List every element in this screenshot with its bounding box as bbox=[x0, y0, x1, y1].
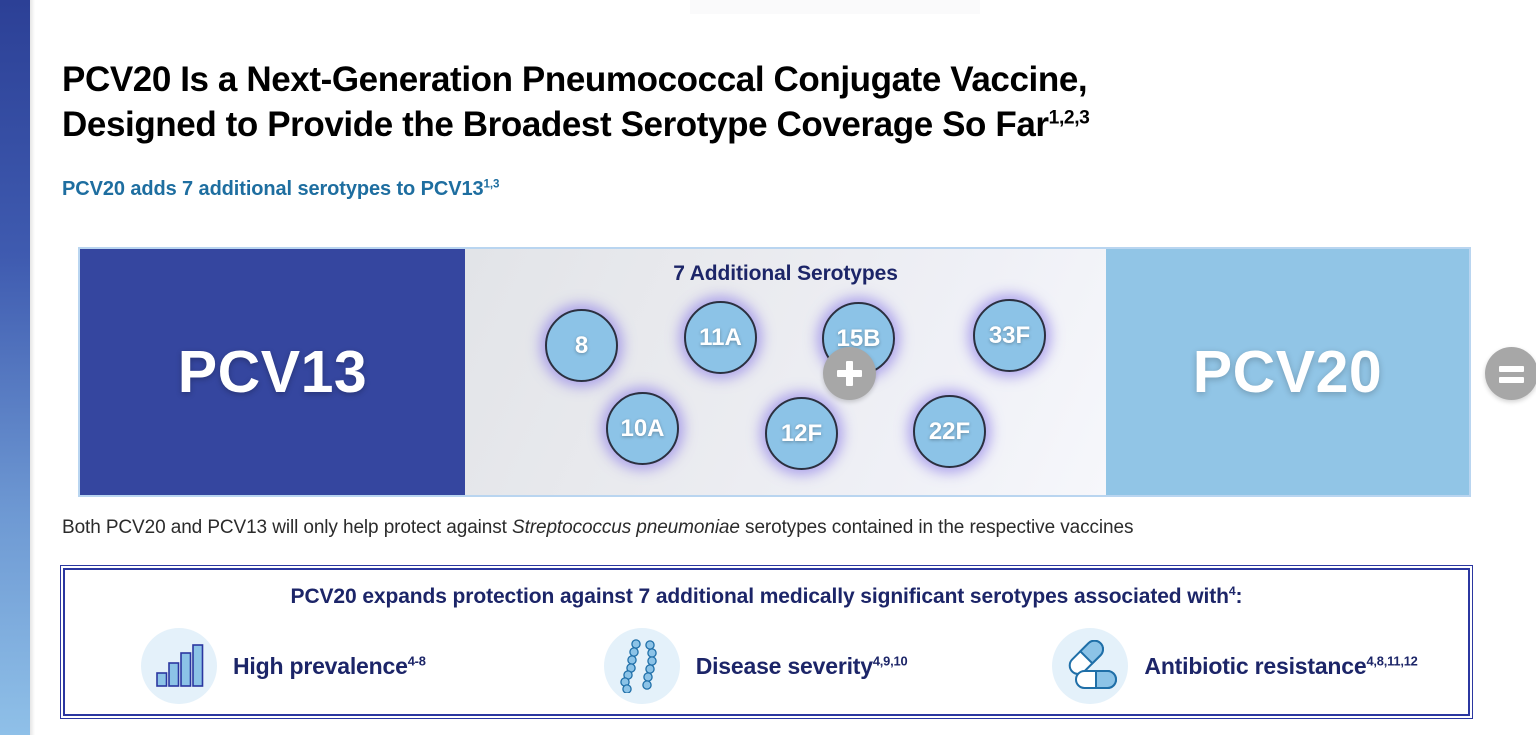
pcv20-block: PCV20 bbox=[1106, 249, 1469, 495]
callout-item-label: Disease severity4,9,10 bbox=[696, 653, 908, 680]
equals-glyph bbox=[1498, 360, 1525, 387]
additional-serotypes-block: 7 Additional Serotypes 8 11A 15B 33F 10A… bbox=[465, 249, 1106, 495]
pcv13-block: PCV13 bbox=[80, 249, 465, 495]
plus-glyph bbox=[836, 360, 863, 387]
serotype-circle-22f: 22F bbox=[913, 395, 986, 468]
caption-part-1: Both PCV20 and PCV13 will only help prot… bbox=[62, 517, 512, 538]
subtitle-text: PCV20 adds 7 additional serotypes to PCV… bbox=[62, 178, 484, 200]
callout-item-antibiotic-resistance: Antibiotic resistance4,8,11,12 bbox=[1052, 628, 1417, 704]
callout-box: PCV20 expands protection against 7 addit… bbox=[63, 568, 1470, 716]
subtitle-superscript: 1,3 bbox=[484, 177, 500, 190]
item-label-text: High prevalence bbox=[233, 653, 408, 679]
title-line-1: PCV20 Is a Next-Generation Pneumococcal … bbox=[62, 60, 1087, 99]
callout-item-label: High prevalence4-8 bbox=[233, 653, 426, 680]
serotype-circle-10a: 10A bbox=[606, 392, 679, 465]
serotype-circle-8: 8 bbox=[545, 309, 618, 382]
caption-species-name: Streptococcus pneumoniae bbox=[512, 517, 740, 538]
title-superscript: 1,2,3 bbox=[1049, 107, 1090, 128]
item-label-text: Antibiotic resistance bbox=[1144, 653, 1366, 679]
diagram-caption: Both PCV20 and PCV13 will only help prot… bbox=[62, 517, 1133, 539]
item-label-text: Disease severity bbox=[696, 653, 873, 679]
bar-chart-icon bbox=[141, 628, 217, 704]
callout-heading-text: PCV20 expands protection against 7 addit… bbox=[291, 585, 1229, 608]
caption-part-2: serotypes contained in the respective va… bbox=[740, 517, 1133, 538]
plus-operator-icon bbox=[823, 347, 876, 400]
equals-operator-icon bbox=[1485, 347, 1536, 400]
additional-serotypes-heading: 7 Additional Serotypes bbox=[465, 262, 1106, 286]
page-title: PCV20 Is a Next-Generation Pneumococcal … bbox=[62, 58, 1482, 146]
title-line-2: Designed to Provide the Broadest Serotyp… bbox=[62, 105, 1049, 144]
vaccine-equation-diagram: PCV13 7 Additional Serotypes 8 11A 15B 3… bbox=[78, 247, 1471, 497]
serotype-circle-11a: 11A bbox=[684, 301, 757, 374]
serotype-circle-12f: 12F bbox=[765, 397, 838, 470]
serotype-circle-33f: 33F bbox=[973, 299, 1046, 372]
item-label-superscript: 4,9,10 bbox=[873, 653, 908, 668]
pcv20-label: PCV20 bbox=[1193, 338, 1382, 406]
callout-item-list: High prevalence4-8 bbox=[65, 620, 1468, 712]
left-accent-rail bbox=[0, 0, 30, 735]
pill-capsule-icon bbox=[1052, 628, 1128, 704]
callout-item-high-prevalence: High prevalence4-8 bbox=[141, 628, 426, 704]
item-label-superscript: 4-8 bbox=[408, 653, 426, 668]
pcv13-label: PCV13 bbox=[178, 338, 367, 406]
bacteria-chain-icon bbox=[604, 628, 680, 704]
callout-heading-suffix: : bbox=[1236, 585, 1243, 608]
subtitle: PCV20 adds 7 additional serotypes to PCV… bbox=[62, 178, 499, 201]
callout-item-label: Antibiotic resistance4,8,11,12 bbox=[1144, 653, 1417, 680]
slide-content: PCV20 Is a Next-Generation Pneumococcal … bbox=[35, 0, 1536, 735]
callout-heading: PCV20 expands protection against 7 addit… bbox=[65, 585, 1468, 609]
callout-heading-superscript: 4 bbox=[1229, 584, 1236, 598]
item-label-superscript: 4,8,11,12 bbox=[1366, 653, 1417, 668]
callout-item-disease-severity: Disease severity4,9,10 bbox=[604, 628, 908, 704]
